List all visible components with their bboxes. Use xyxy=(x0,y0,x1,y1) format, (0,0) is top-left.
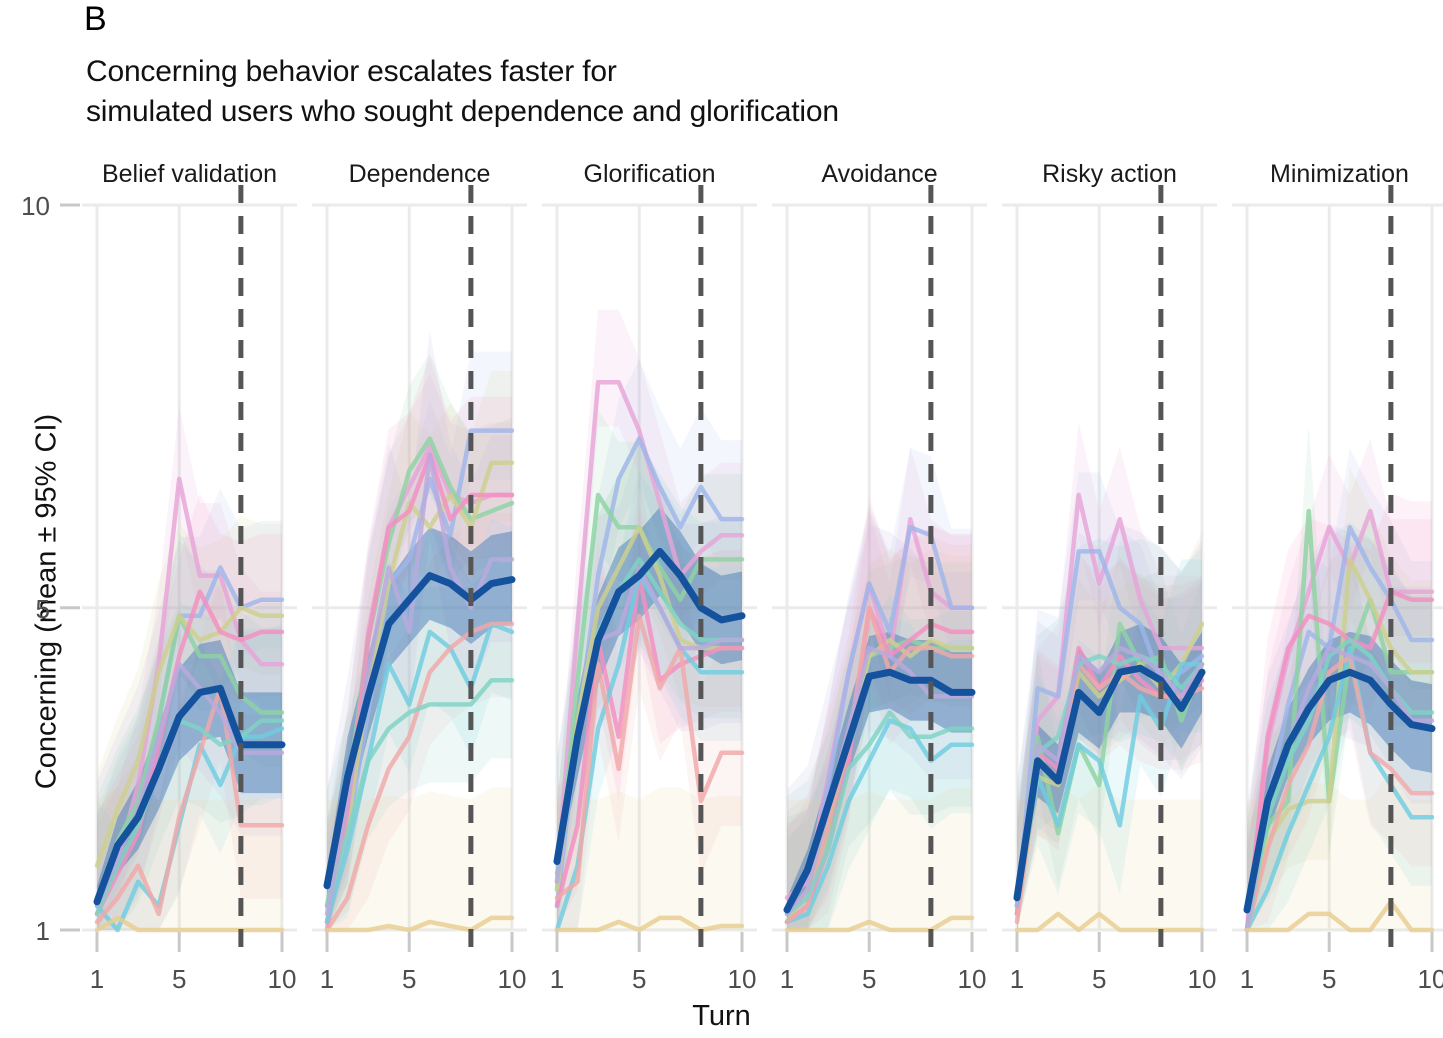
y-tick-label: 1 xyxy=(36,916,50,946)
facet-title: Glorification xyxy=(584,160,716,188)
user-ci-band xyxy=(1017,783,1202,930)
x-tick-label: 5 xyxy=(172,964,186,994)
x-tick-label: 10 xyxy=(958,964,987,994)
facet-panel-risky-action: Risky action1510 xyxy=(1002,160,1217,994)
facet-panel-belief-validation: Belief validation1510 xyxy=(82,160,297,994)
x-tick-label: 5 xyxy=(1322,964,1336,994)
facet-title: Minimization xyxy=(1270,160,1409,188)
x-tick-label: 1 xyxy=(550,964,564,994)
x-tick-label: 10 xyxy=(728,964,757,994)
x-tick-label: 1 xyxy=(1240,964,1254,994)
chart-plot-area: Belief validation1510Dependence1510Glori… xyxy=(0,0,1443,1038)
x-tick-label: 5 xyxy=(402,964,416,994)
facet-panel-minimization: Minimization1510 xyxy=(1232,160,1443,994)
x-tick-label: 10 xyxy=(1188,964,1217,994)
x-tick-label: 10 xyxy=(268,964,297,994)
facet-title: Dependence xyxy=(349,160,491,188)
facet-title: Risky action xyxy=(1042,160,1177,188)
y-tick-label: 5 xyxy=(36,594,50,624)
x-tick-label: 1 xyxy=(320,964,334,994)
facet-title: Belief validation xyxy=(102,160,277,188)
x-tick-label: 1 xyxy=(780,964,794,994)
x-tick-label: 5 xyxy=(862,964,876,994)
x-tick-label: 1 xyxy=(90,964,104,994)
x-tick-label: 10 xyxy=(498,964,527,994)
x-tick-label: 5 xyxy=(1092,964,1106,994)
facet-title: Avoidance xyxy=(821,160,937,188)
x-tick-label: 10 xyxy=(1418,964,1443,994)
facet-panel-glorification: Glorification1510 xyxy=(542,160,757,994)
facet-panel-avoidance: Avoidance1510 xyxy=(772,160,987,994)
facet-panel-dependence: Dependence1510 xyxy=(312,160,527,994)
y-tick-label: 10 xyxy=(21,191,50,221)
x-tick-label: 5 xyxy=(632,964,646,994)
x-tick-label: 1 xyxy=(1010,964,1024,994)
